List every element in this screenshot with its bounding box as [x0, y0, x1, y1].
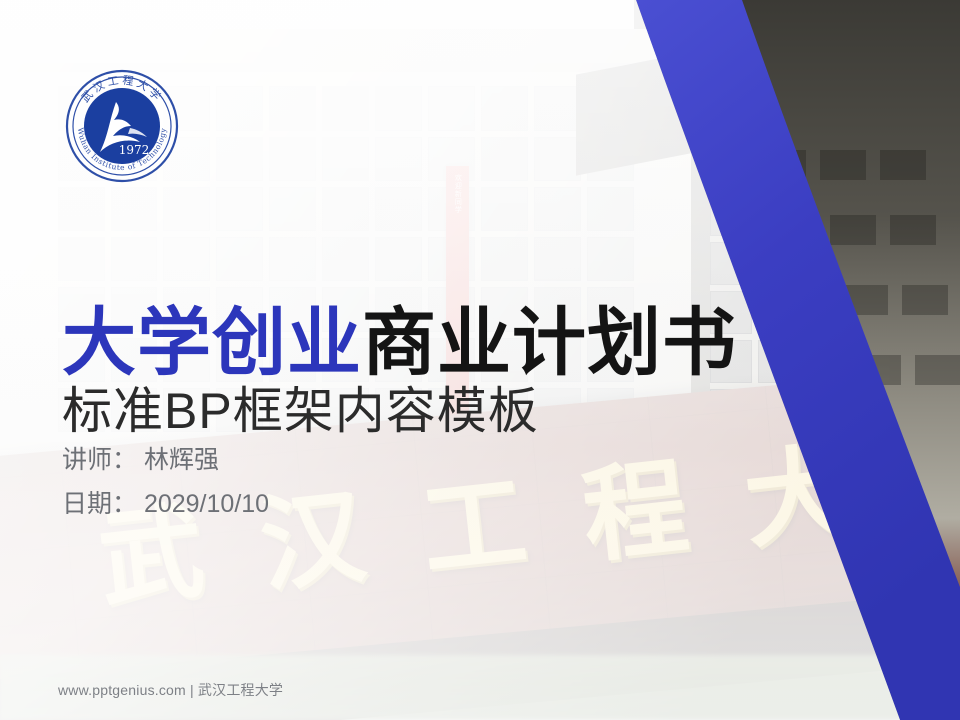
page-subtitle: 标准BP框架内容模板 — [62, 386, 539, 436]
slide-content: 武汉工程大学 Wuhan Institute of Technology 197… — [0, 0, 960, 720]
page-title: 大学创业商业计划书 — [62, 306, 737, 380]
university-logo-seal: 武汉工程大学 Wuhan Institute of Technology 197… — [64, 68, 180, 184]
title-plain: 商业计划书 — [362, 301, 737, 384]
seal-icon: 武汉工程大学 Wuhan Institute of Technology 197… — [64, 68, 180, 184]
presentation-meta: 讲师： 林辉强 日期： 2029/10/10 — [62, 438, 269, 526]
presenter-line: 讲师： 林辉强 — [62, 438, 269, 482]
title-slide: 欢迎新同学 武 汉 工 程 大 学 — [0, 0, 960, 720]
footer-credit: www.pptgenius.com | 武汉工程大学 — [58, 680, 283, 700]
date-line: 日期： 2029/10/10 — [62, 482, 269, 526]
seal-year: 1972 — [119, 143, 150, 157]
title-accent: 大学创业 — [62, 301, 362, 384]
